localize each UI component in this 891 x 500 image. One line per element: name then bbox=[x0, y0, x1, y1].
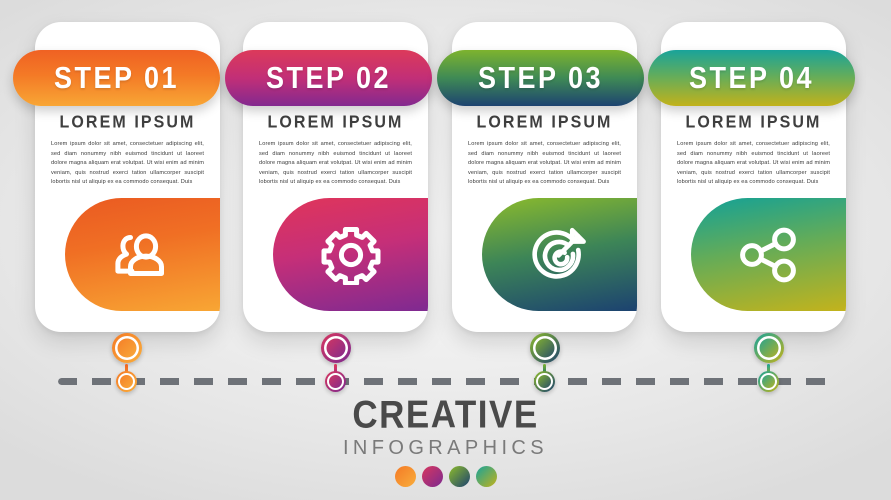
gear-icon bbox=[321, 225, 381, 285]
step-icon-panel-4 bbox=[691, 198, 846, 311]
infographic-canvas: LOREM IPSUM Lorem ipsum dolor sit amet, … bbox=[0, 0, 891, 500]
step-icon-panel-3 bbox=[482, 198, 637, 311]
target-icon bbox=[528, 224, 592, 286]
timeline-node-large-3[interactable] bbox=[530, 333, 560, 363]
step-icon-panel-1 bbox=[65, 198, 220, 311]
timeline-node-large-1[interactable] bbox=[112, 333, 142, 363]
footer-logo: CREATIVE INFOGRAPHICS bbox=[0, 398, 891, 487]
step-pill-4[interactable]: STEP 04 bbox=[648, 50, 855, 106]
step-pill-1[interactable]: STEP 01 bbox=[13, 50, 220, 106]
logo-dot-1 bbox=[395, 466, 416, 487]
timeline-node-small-1[interactable] bbox=[116, 371, 137, 392]
step-pill-label-2: STEP 02 bbox=[266, 60, 391, 95]
timeline-node-small-2[interactable] bbox=[325, 371, 346, 392]
users-icon bbox=[110, 227, 176, 283]
logo-dot-3 bbox=[449, 466, 470, 487]
step-body-1: Lorem ipsum dolor sit amet, consectetuer… bbox=[51, 140, 204, 188]
timeline-dashed-line bbox=[58, 378, 839, 385]
timeline-node-large-2[interactable] bbox=[321, 333, 351, 363]
step-title-2: LOREM IPSUM bbox=[243, 113, 428, 132]
logo-title: CREATIVE bbox=[0, 396, 891, 434]
logo-subtitle: INFOGRAPHICS bbox=[0, 435, 891, 461]
step-body-2: Lorem ipsum dolor sit amet, consectetuer… bbox=[259, 140, 412, 188]
step-title-1: LOREM IPSUM bbox=[35, 113, 220, 132]
logo-dot-4 bbox=[476, 466, 497, 487]
logo-dot-2 bbox=[422, 466, 443, 487]
step-pill-label-3: STEP 03 bbox=[478, 60, 603, 95]
step-icon-panel-2 bbox=[273, 198, 428, 311]
logo-dot-row bbox=[0, 466, 891, 487]
timeline-node-small-3[interactable] bbox=[534, 371, 555, 392]
step-title-4: LOREM IPSUM bbox=[661, 113, 846, 132]
step-body-3: Lorem ipsum dolor sit amet, consectetuer… bbox=[468, 140, 621, 188]
step-pill-label-1: STEP 01 bbox=[54, 60, 179, 95]
step-pill-label-4: STEP 04 bbox=[689, 60, 814, 95]
step-title-3: LOREM IPSUM bbox=[452, 113, 637, 132]
step-pill-2[interactable]: STEP 02 bbox=[225, 50, 432, 106]
timeline-node-small-4[interactable] bbox=[758, 371, 779, 392]
step-body-4: Lorem ipsum dolor sit amet, consectetuer… bbox=[677, 140, 830, 188]
share-icon bbox=[738, 226, 800, 284]
timeline-node-large-4[interactable] bbox=[754, 333, 784, 363]
step-pill-3[interactable]: STEP 03 bbox=[437, 50, 644, 106]
